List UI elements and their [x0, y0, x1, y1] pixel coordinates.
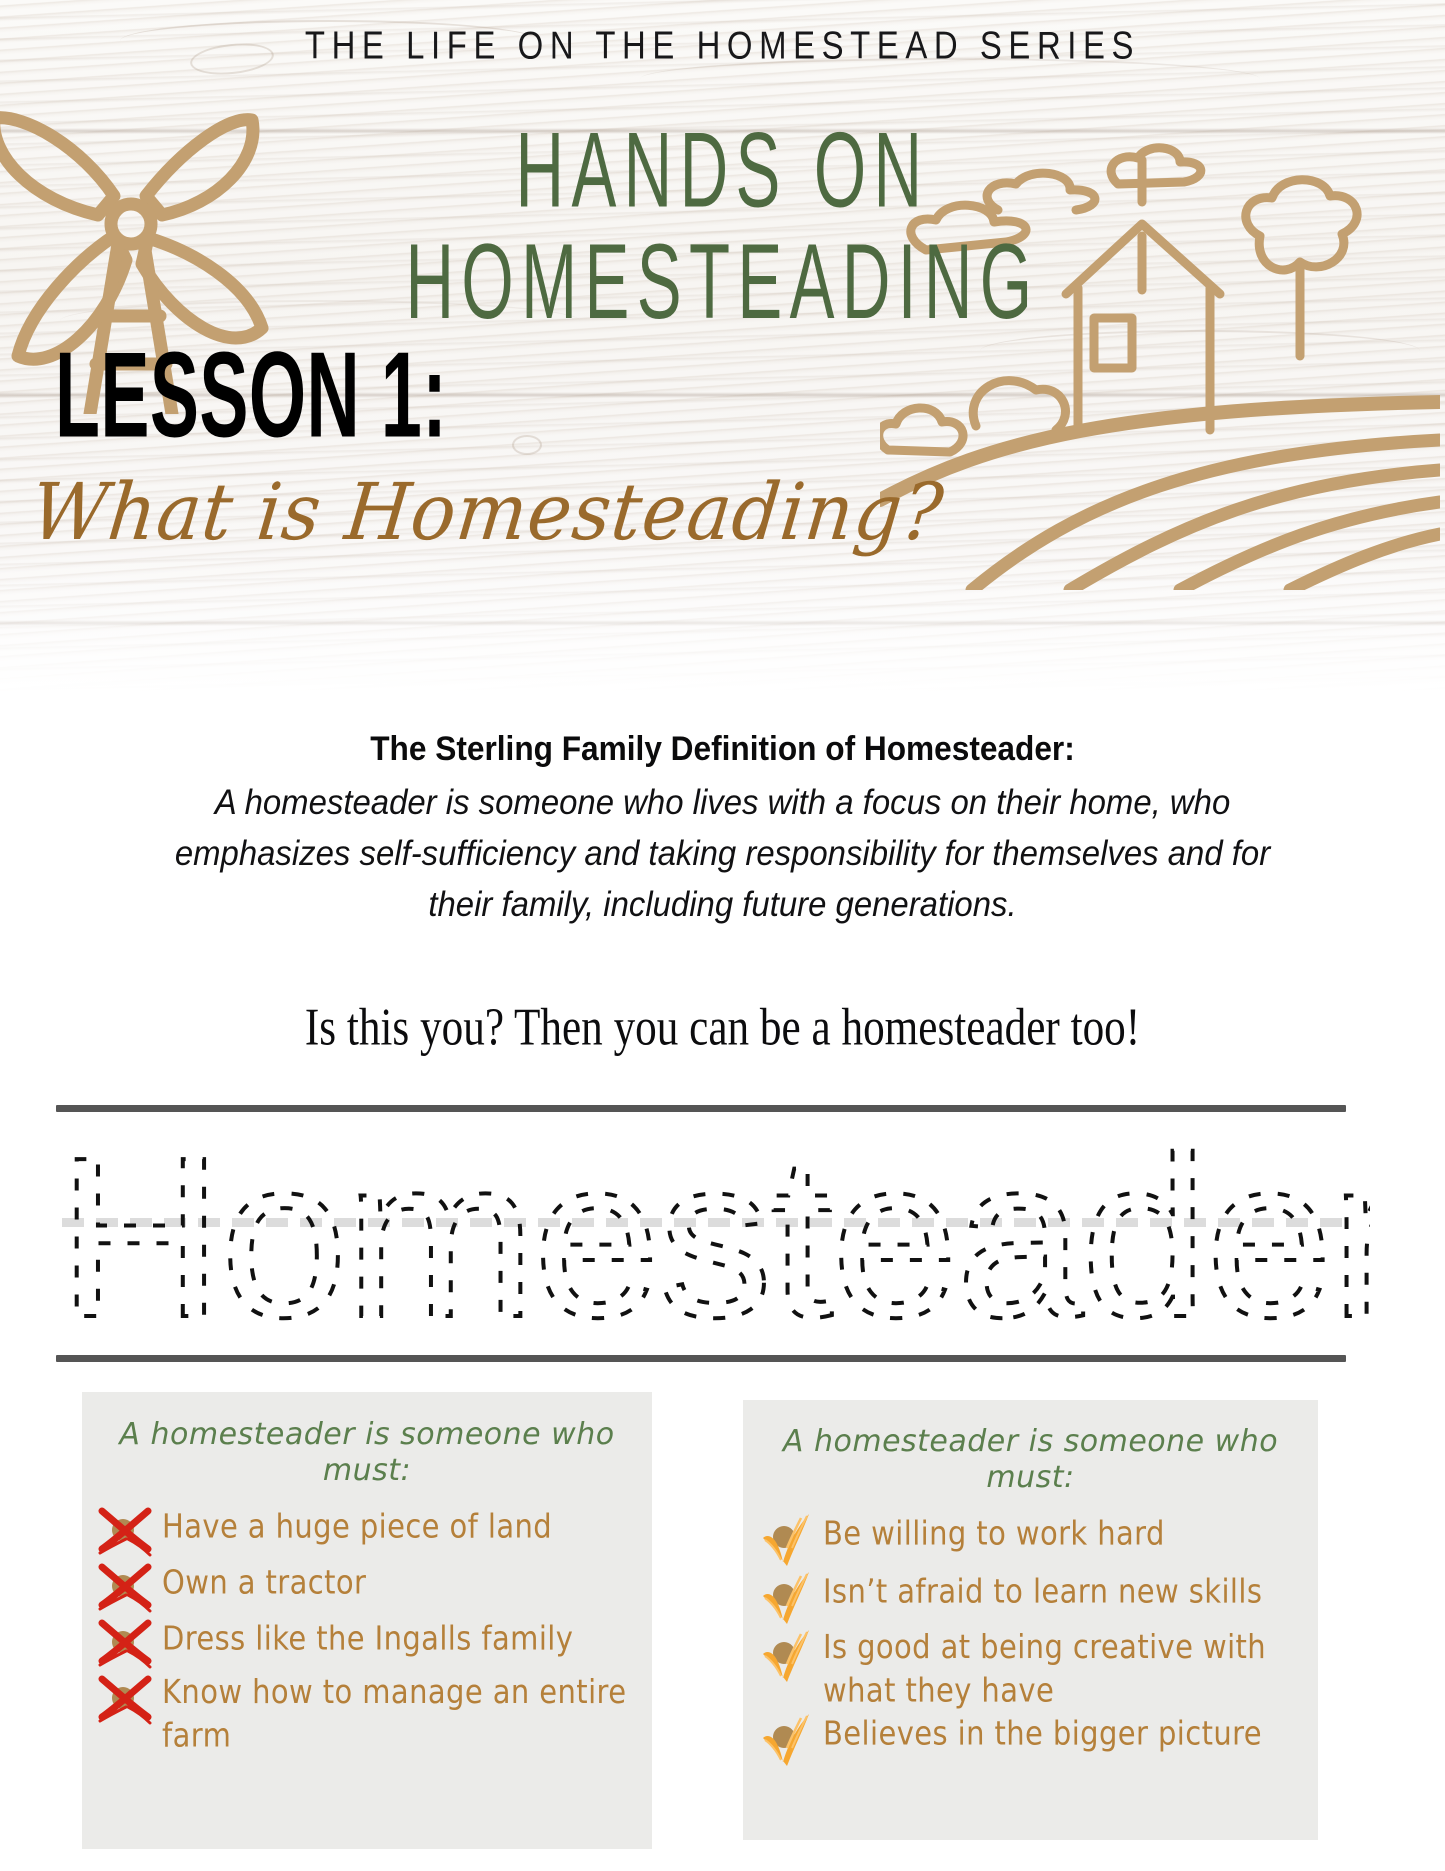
checklist-item-label: Isn’t afraid to learn new skills: [823, 1565, 1262, 1613]
checklist-item-label: Know how to manage an entire farm: [162, 1666, 646, 1758]
checklist-item[interactable]: Have a huge piece of land: [96, 1503, 646, 1557]
x-mark-icon: [96, 1615, 154, 1669]
checklist-panel-must-not: A homesteader is someone who must: Have …: [82, 1392, 652, 1849]
checklist-items: Have a huge piece of landOwn a tractorDr…: [82, 1503, 652, 1753]
checklist-item-label: Be willing to work hard: [823, 1507, 1165, 1555]
plank-seam: [0, 620, 1445, 626]
page-title-line-2: HOMESTEADING: [130, 230, 1315, 337]
checklist-panel-must: A homesteader is someone who must: Be wi…: [743, 1400, 1318, 1840]
wood-knot: [512, 435, 542, 455]
checklist-item-label: Is good at being creative with what they…: [823, 1621, 1312, 1713]
x-mark-icon: [96, 1559, 154, 1613]
panel-heading: A homesteader is someone who must:: [743, 1400, 1318, 1496]
check-mark-icon: [757, 1568, 815, 1622]
tracing-word-homesteader[interactable]: Homesteader: [50, 1108, 1370, 1358]
check-mark-icon: [757, 1510, 815, 1564]
worksheet-page: THE LIFE ON THE HOMESTEAD SERIES HANDS O…: [0, 0, 1445, 1871]
checklist-item[interactable]: Is good at being creative with what they…: [757, 1626, 1312, 1708]
check-mark-icon: [757, 1710, 815, 1764]
definition-block: The Sterling Family Definition of Homest…: [90, 730, 1355, 930]
checklist-item[interactable]: Be willing to work hard: [757, 1510, 1312, 1566]
checklist-item[interactable]: Believes in the bigger picture: [757, 1710, 1312, 1766]
definition-heading: The Sterling Family Definition of Homest…: [134, 730, 1310, 769]
definition-body: A homesteader is someone who lives with …: [128, 777, 1317, 930]
x-mark-icon: [96, 1503, 154, 1557]
checklist-item-label: Own a tractor: [162, 1556, 366, 1604]
checklist-item[interactable]: Dress like the Ingalls family: [96, 1615, 646, 1669]
lesson-subtitle: What is Homesteading?: [27, 470, 948, 555]
checklist-items: Be willing to work hardIsn’t afraid to l…: [743, 1510, 1318, 1766]
checklist-item-label: Dress like the Ingalls family: [162, 1612, 573, 1660]
svg-text:Homesteader: Homesteader: [58, 1111, 1370, 1358]
prompt-text: Is this you? Then you can be a homestead…: [72, 997, 1373, 1058]
check-mark-icon: [757, 1626, 815, 1680]
checklist-item[interactable]: Own a tractor: [96, 1559, 646, 1613]
checklist-item-label: Have a huge piece of land: [162, 1500, 552, 1548]
page-title: HANDS ON HOMESTEADING: [130, 118, 1315, 336]
series-title: THE LIFE ON THE HOMESTEAD SERIES: [43, 24, 1401, 69]
checklist-item[interactable]: Isn’t afraid to learn new skills: [757, 1568, 1312, 1624]
panel-heading: A homesteader is someone who must:: [82, 1392, 652, 1489]
lesson-number-label: LESSON 1:: [55, 335, 447, 456]
checklist-item-label: Believes in the bigger picture: [823, 1707, 1262, 1755]
x-mark-icon: [96, 1671, 154, 1725]
page-title-line-1: HANDS ON: [516, 112, 930, 230]
checklist-item[interactable]: Know how to manage an entire farm: [96, 1671, 646, 1753]
